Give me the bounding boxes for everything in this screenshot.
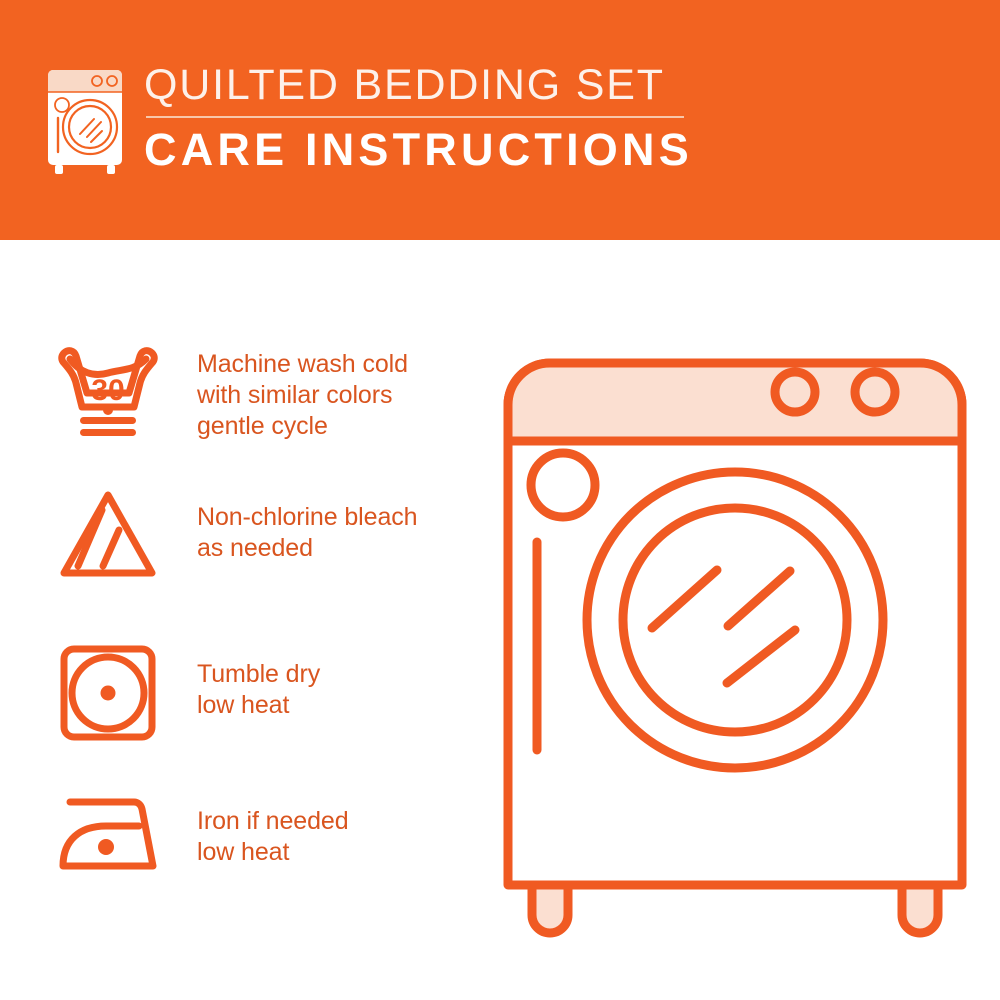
knob-left (775, 372, 815, 412)
leg-right (902, 885, 938, 933)
leg-left (532, 885, 568, 933)
header-title-group: QUILTED BEDDING SET CARE INSTRUCTIONS (144, 62, 693, 174)
care-item-tumble-dry: Tumble dry low heat (52, 643, 492, 743)
header-content: QUILTED BEDDING SET CARE INSTRUCTIONS (44, 62, 693, 174)
knob-right (855, 372, 895, 412)
care-item-machine-wash: 30 Machine wash cold with similar colors… (52, 343, 492, 443)
title-divider (146, 116, 684, 118)
care-item-label: Machine wash cold with similar colors ge… (164, 343, 408, 442)
care-item-label: Iron if needed low heat (164, 792, 349, 868)
care-item-bleach: Non-chlorine bleach as needed (52, 488, 492, 580)
front-load-washing-machine-illustration (490, 330, 980, 940)
wash-temperature-label: 30 (91, 374, 124, 407)
care-item-label: Tumble dry low heat (164, 643, 320, 721)
iron-low-heat-icon (52, 792, 164, 880)
non-chlorine-bleach-triangle-icon (52, 488, 164, 580)
washing-machine-icon (44, 66, 126, 174)
care-item-label: Non-chlorine bleach as needed (164, 488, 417, 564)
page-title: QUILTED BEDDING SET (144, 62, 693, 108)
care-instructions-list: 30 Machine wash cold with similar colors… (0, 240, 500, 1000)
page-subtitle: CARE INSTRUCTIONS (144, 126, 693, 174)
tumble-dry-low-icon (52, 643, 164, 743)
machine-wash-tub-icon: 30 (52, 343, 164, 443)
care-item-iron: Iron if needed low heat (52, 792, 492, 880)
header-banner: QUILTED BEDDING SET CARE INSTRUCTIONS (0, 0, 1000, 240)
